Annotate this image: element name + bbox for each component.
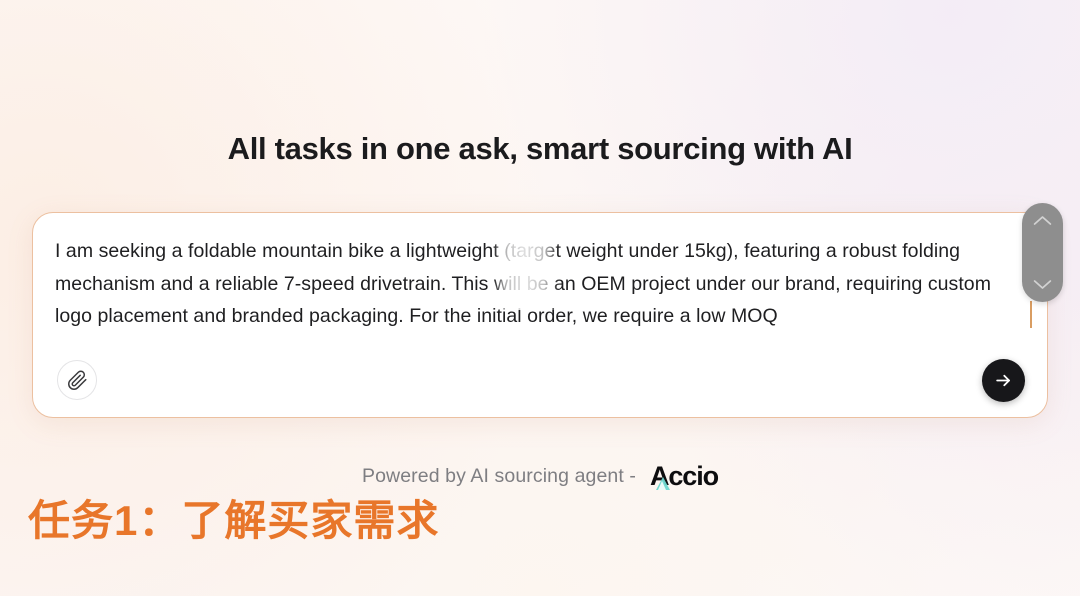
text-caret xyxy=(1030,301,1032,328)
accio-triangle-highlight-icon xyxy=(658,481,666,490)
arrow-right-icon xyxy=(994,371,1013,390)
page-title: All tasks in one ask, smart sourcing wit… xyxy=(0,131,1080,167)
powered-by-label: Powered by AI sourcing agent - xyxy=(362,465,636,488)
chevron-down-icon[interactable] xyxy=(1032,278,1053,291)
prompt-scrollbar[interactable] xyxy=(1022,203,1063,302)
accio-logo: Accio xyxy=(650,461,718,492)
send-button[interactable] xyxy=(982,359,1025,402)
task-caption: 任务1：了解买家需求 xyxy=(28,487,439,548)
app-root: All tasks in one ask, smart sourcing wit… xyxy=(0,0,1080,596)
paperclip-icon xyxy=(67,370,88,391)
attach-file-button[interactable] xyxy=(57,360,97,400)
prompt-textarea[interactable]: I am seeking a foldable mountain bike a … xyxy=(55,235,1015,333)
prompt-input-card[interactable]: I am seeking a foldable mountain bike a … xyxy=(32,212,1048,418)
chevron-up-icon[interactable] xyxy=(1032,214,1053,227)
